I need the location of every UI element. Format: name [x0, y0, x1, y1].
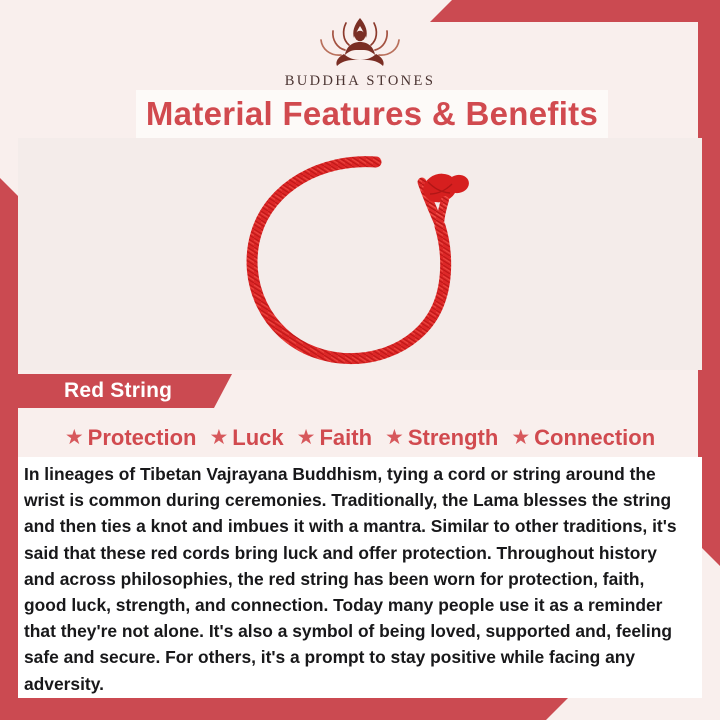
product-image-area	[18, 138, 702, 370]
frame-bar-bottom	[0, 698, 568, 720]
keyword-label: Protection	[88, 425, 197, 451]
keyword-label: Strength	[408, 425, 498, 451]
keyword-connection: ★ Connection	[511, 425, 655, 451]
keyword-label: Faith	[319, 425, 372, 451]
frame-bar-left	[0, 178, 18, 720]
lotus-meditation-icon	[308, 14, 412, 72]
description-panel: In lineages of Tibetan Vajrayana Buddhis…	[18, 457, 702, 698]
star-icon: ★	[511, 427, 530, 448]
keyword-label: Connection	[534, 425, 655, 451]
keyword-faith: ★ Faith	[297, 425, 372, 451]
keyword-luck: ★ Luck	[209, 425, 283, 451]
infographic-poster: BUDDHA STONES Material Features & Benefi…	[0, 0, 720, 720]
product-name-ribbon: Red String	[18, 374, 232, 408]
star-icon: ★	[297, 427, 316, 448]
star-icon: ★	[65, 427, 84, 448]
product-name-label: Red String	[18, 379, 172, 403]
benefit-keywords-row: ★ Protection ★ Luck ★ Faith ★ Strength ★…	[18, 419, 702, 456]
page-title-panel: Material Features & Benefits	[136, 90, 608, 138]
star-icon: ★	[209, 427, 228, 448]
star-icon: ★	[385, 427, 404, 448]
red-string-bracelet-image	[226, 148, 494, 370]
brand-name: BUDDHA STONES	[0, 73, 720, 90]
keyword-protection: ★ Protection	[65, 425, 197, 451]
keyword-strength: ★ Strength	[385, 425, 498, 451]
page-title: Material Features & Benefits	[146, 95, 598, 133]
description-text: In lineages of Tibetan Vajrayana Buddhis…	[24, 461, 684, 697]
brand-block: BUDDHA STONES	[0, 14, 720, 90]
keyword-label: Luck	[232, 425, 283, 451]
